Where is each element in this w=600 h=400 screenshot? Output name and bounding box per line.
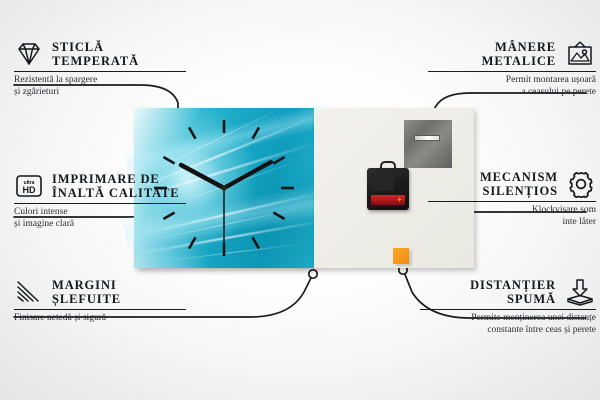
diamond-icon	[14, 41, 44, 67]
ultra-hd-icon: ultra HD	[14, 173, 44, 199]
clock-center-cap	[221, 185, 226, 190]
callout-rule	[14, 71, 186, 72]
callout-description: Klockvisare som inte låter	[428, 205, 596, 228]
callout-rule	[428, 71, 596, 72]
hanging-frame-icon	[564, 40, 596, 68]
callout-mecanism-silentios: MECANISM SILENȚIOS Klockvisare som inte …	[428, 170, 596, 228]
leader-dot-margini	[309, 270, 317, 278]
callout-description: Permit montarea ușoară a ceasului pe per…	[428, 75, 596, 98]
callout-rule	[14, 203, 186, 204]
minute-hand	[224, 162, 271, 188]
movement-body	[372, 173, 394, 191]
gear-icon	[566, 170, 596, 198]
battery-plus-icon: +	[396, 196, 403, 203]
press-down-spacer-icon	[564, 278, 596, 306]
battery: +	[371, 195, 405, 205]
callout-description: Finisare netedă și sigură	[14, 313, 186, 325]
quartz-movement: +	[367, 168, 409, 210]
callout-title: MÂNERE METALICE	[482, 40, 556, 68]
hanger-slot	[414, 135, 440, 141]
callout-title: IMPRIMARE DE ÎNALTĂ CALITATE	[52, 172, 180, 200]
callout-description: Permite menținerea unei distanțe constan…	[420, 313, 596, 336]
metal-hanger-plate	[404, 120, 452, 168]
callout-distantier-spuma: DISTANȚIER SPUMĂ Permite menținerea unei…	[420, 278, 596, 336]
callout-margini-slefuite: MARGINI ȘLEFUITE Finisare netedă și sigu…	[14, 278, 186, 325]
hour-hand	[181, 165, 224, 188]
callout-title: DISTANȚIER SPUMĂ	[470, 278, 556, 306]
foam-spacer	[393, 248, 409, 264]
callout-title: STICLĂ TEMPERATĂ	[52, 40, 139, 68]
callout-sticla-temperata: STICLĂ TEMPERATĂ Rezistentă la spargere …	[14, 40, 186, 98]
callout-title: MARGINI ȘLEFUITE	[52, 278, 121, 306]
callout-rule	[428, 201, 596, 202]
callout-rule	[420, 309, 596, 310]
callout-description: Culori intense și imagine clară	[14, 207, 186, 230]
beveled-edge-icon	[14, 279, 44, 305]
callout-imprimare-hd: ultra HD IMPRIMARE DE ÎNALTĂ CALITATE Cu…	[14, 172, 186, 230]
callout-manere-metalice: MÂNERE METALICE Permit montarea ușoară a…	[428, 40, 596, 98]
callout-description: Rezistentă la spargere și zgârieturi	[14, 75, 186, 98]
callout-rule	[14, 309, 186, 310]
infographic-canvas: + STICLĂ TEMPERATĂ Rezistentă la sparger…	[0, 0, 600, 400]
callout-title: MECANISM SILENȚIOS	[480, 170, 558, 198]
hanger-loop	[380, 161, 396, 171]
svg-text:HD: HD	[23, 185, 36, 195]
